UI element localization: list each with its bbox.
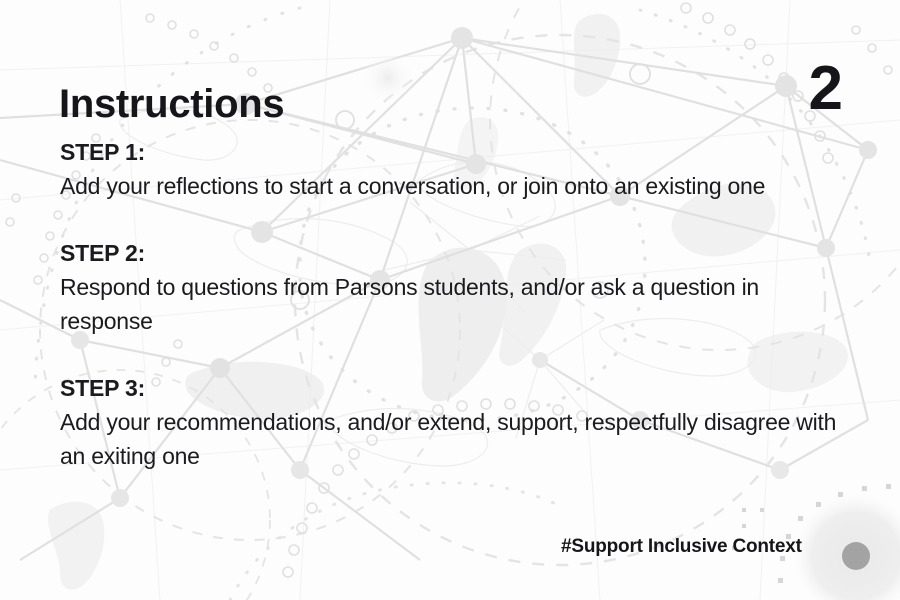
page-title: Instructions <box>59 84 284 124</box>
hashtag-label: #Support Inclusive Context <box>561 537 802 556</box>
step-label-3: STEP 3: <box>60 371 860 405</box>
step-label-2: STEP 2: <box>60 236 860 270</box>
slide-content: Instructions 2 STEP 1: Add your reflecti… <box>0 0 900 600</box>
step-block-2: STEP 2: Respond to questions from Parson… <box>60 236 860 338</box>
step-block-1: STEP 1: Add your reflections to start a … <box>60 135 860 203</box>
steps-list: STEP 1: Add your reflections to start a … <box>60 135 860 473</box>
step-body-1: Add your reflections to start a conversa… <box>60 169 850 203</box>
page-number: 2 <box>809 58 843 120</box>
step-body-3: Add your recommendations, and/or extend,… <box>60 405 850 473</box>
step-body-2: Respond to questions from Parsons studen… <box>60 270 850 338</box>
step-label-1: STEP 1: <box>60 135 860 169</box>
step-block-3: STEP 3: Add your recommendations, and/or… <box>60 371 860 473</box>
slide-canvas: Instructions 2 STEP 1: Add your reflecti… <box>0 0 900 600</box>
